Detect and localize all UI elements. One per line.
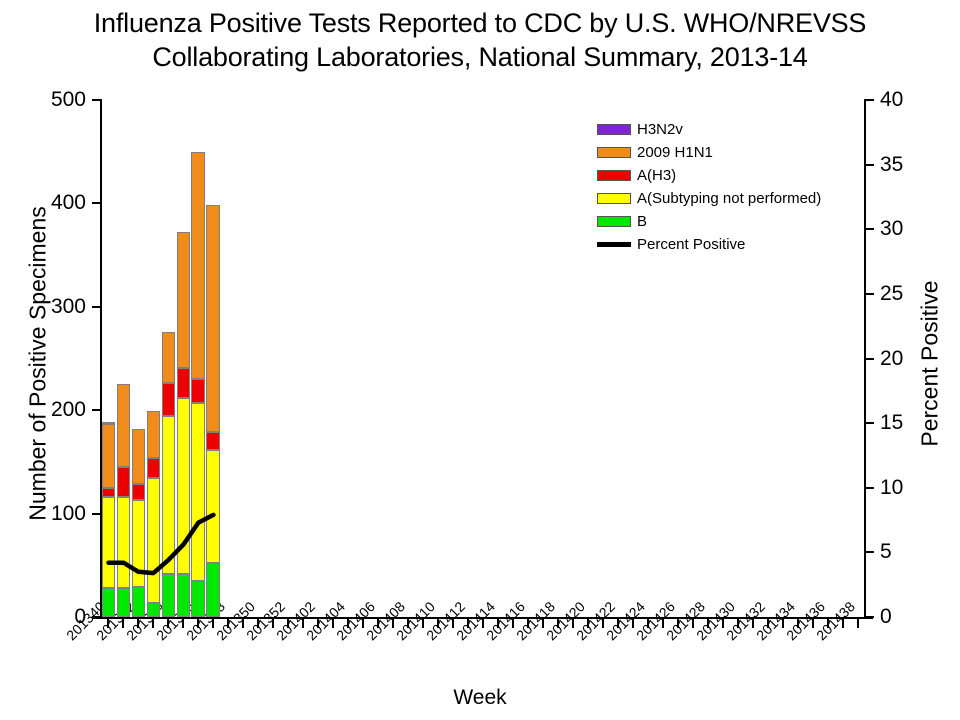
legend-item-label: H3N2v — [637, 122, 683, 137]
bar-segment — [117, 384, 131, 467]
bar-segment — [162, 332, 176, 384]
y-axis-right-tick-mark — [866, 616, 874, 618]
swatch-orange-icon — [597, 147, 631, 158]
y-axis-right-tick-mark — [866, 293, 874, 295]
legend-item: 2009 H1N1 — [597, 141, 857, 164]
influenza-chart: Influenza Positive Tests Reported to CDC… — [0, 0, 960, 720]
bar-column — [102, 100, 116, 617]
bar-segment — [191, 152, 205, 379]
bar-segment — [132, 587, 146, 617]
bar-segment — [102, 422, 116, 424]
bar-segment — [117, 497, 131, 588]
bar-segment — [177, 574, 191, 617]
bar-segment — [191, 403, 205, 581]
bar-segment — [102, 424, 116, 488]
chart-title-line1: Influenza Positive Tests Reported to CDC… — [94, 8, 867, 38]
y-axis-left-tick-label: 200 — [10, 399, 86, 420]
chart-title-line2: Collaborating Laboratories, National Sum… — [0, 40, 960, 74]
bar-column — [206, 100, 220, 617]
bar-segment — [147, 458, 161, 479]
y-axis-right-tick-label: 25 — [880, 283, 920, 304]
legend-item: A(Subtyping not performed) — [597, 187, 857, 210]
y-axis-right-tick-mark — [866, 358, 874, 360]
y-axis-right-tick-label: 10 — [880, 477, 920, 498]
legend-item: B — [597, 210, 857, 233]
bar-segment — [132, 484, 146, 501]
legend-item: A(H3) — [597, 164, 857, 187]
legend-item-label: B — [637, 214, 647, 229]
y-axis-right-tick-mark — [866, 487, 874, 489]
y-axis-left-tick-mark — [92, 306, 100, 308]
bar-column — [191, 100, 205, 617]
bar-segment — [102, 497, 116, 588]
bar-segment — [147, 603, 161, 617]
bar-column — [177, 100, 191, 617]
bar-segment — [102, 488, 116, 497]
bar-segment — [177, 232, 191, 367]
bar-segment — [206, 450, 220, 564]
legend-item-label: A(Subtyping not performed) — [637, 191, 821, 206]
y-axis-right-tick-label: 30 — [880, 218, 920, 239]
y-axis-left-tick-mark — [92, 409, 100, 411]
y-axis-right-tick-mark — [866, 422, 874, 424]
y-axis-left-tick-mark — [92, 513, 100, 515]
y-axis-right-tick-mark — [866, 164, 874, 166]
y-axis-left-tick-label: 100 — [10, 503, 86, 524]
y-axis-right-title: Percent Positive — [917, 144, 944, 584]
legend-item: Percent Positive — [597, 233, 857, 256]
y-axis-right-tick-label: 15 — [880, 412, 920, 433]
bar-segment — [191, 581, 205, 617]
line-black-icon — [597, 242, 631, 247]
bar-segment — [162, 574, 176, 617]
bar-column — [132, 100, 146, 617]
y-axis-left-tick-mark — [92, 202, 100, 204]
y-axis-right-tick-label: 35 — [880, 154, 920, 175]
y-axis-right-tick-mark — [866, 551, 874, 553]
swatch-red-icon — [597, 170, 631, 181]
swatch-yellow-icon — [597, 193, 631, 204]
legend-item: H3N2v — [597, 118, 857, 141]
y-axis-right-tick-label: 5 — [880, 541, 920, 562]
bar-segment — [132, 500, 146, 587]
bar-segment — [177, 368, 191, 398]
bar-segment — [102, 588, 116, 617]
y-axis-right-tick-label: 0 — [880, 606, 920, 627]
bar-segment — [117, 588, 131, 617]
chart-legend: H3N2v2009 H1N1A(H3)A(Subtyping not perfo… — [597, 118, 857, 256]
y-axis-left-tick-label: 300 — [10, 296, 86, 317]
bar-segment — [162, 416, 176, 573]
bar-segment — [206, 563, 220, 617]
swatch-purple-icon — [597, 124, 631, 135]
legend-item-label: 2009 H1N1 — [637, 145, 713, 160]
bar-column — [117, 100, 131, 617]
bar-column — [147, 100, 161, 617]
legend-item-label: Percent Positive — [637, 237, 745, 252]
y-axis-left-tick-label: 400 — [10, 192, 86, 213]
bar-segment — [132, 429, 146, 484]
y-axis-right-tick-mark — [866, 99, 874, 101]
swatch-green-icon — [597, 216, 631, 227]
bar-segment — [191, 379, 205, 403]
bar-column — [162, 100, 176, 617]
bar-segment — [206, 205, 220, 431]
y-axis-left-tick-label: 500 — [10, 89, 86, 110]
y-axis-right-tick-label: 40 — [880, 89, 920, 110]
y-axis-right-tick-label: 20 — [880, 348, 920, 369]
y-axis-left-tick-mark — [92, 99, 100, 101]
x-axis-title: Week — [0, 686, 960, 710]
bar-segment — [117, 467, 131, 497]
y-axis-right-tick-mark — [866, 228, 874, 230]
bar-segment — [147, 411, 161, 458]
bar-segment — [147, 478, 161, 602]
bar-segment — [177, 398, 191, 574]
bar-segment — [206, 432, 220, 450]
x-axis-tick-mark — [857, 619, 859, 628]
bar-segment — [162, 383, 176, 416]
chart-title: Influenza Positive Tests Reported to CDC… — [0, 6, 960, 74]
legend-item-label: A(H3) — [637, 168, 676, 183]
